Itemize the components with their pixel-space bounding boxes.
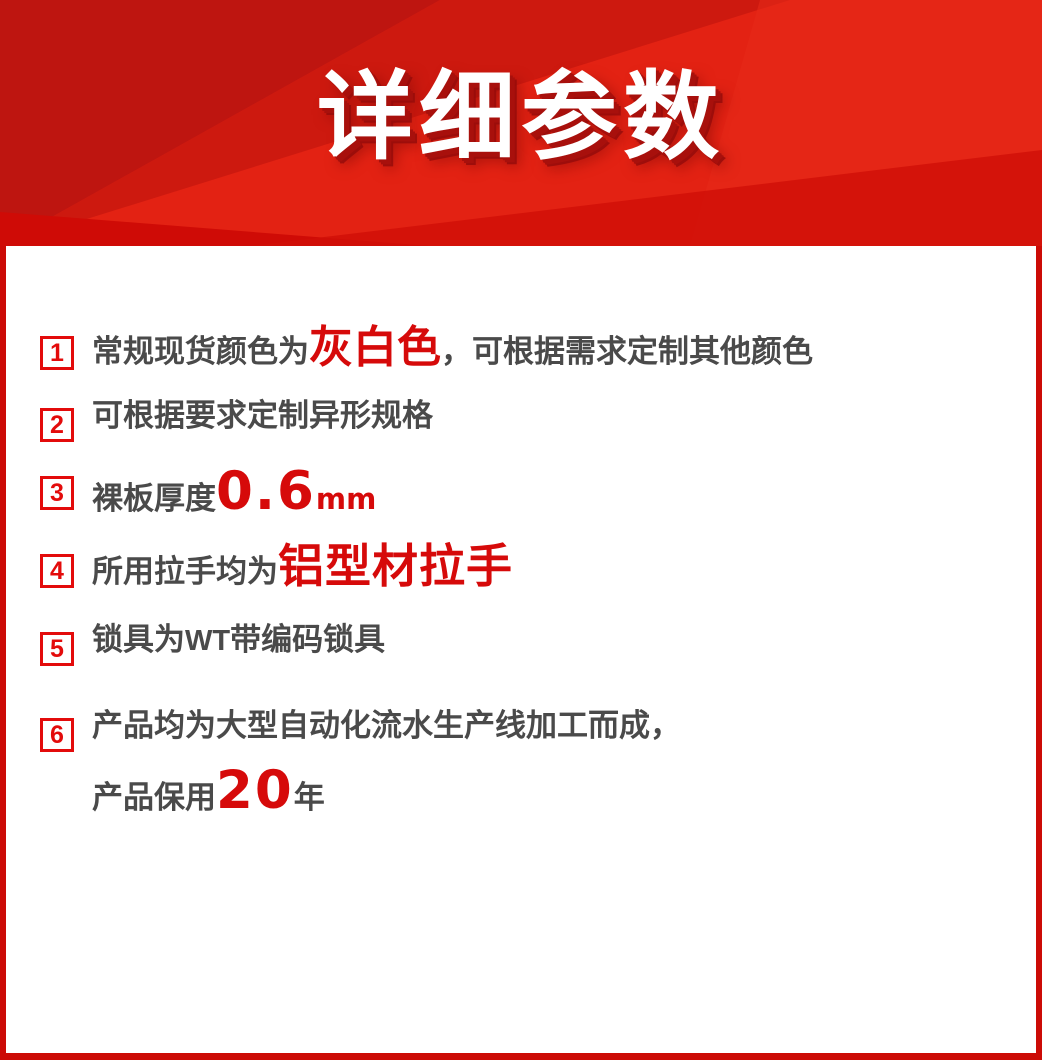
text-segment-value: 20 [216,760,294,821]
list-item: 1 常规现货颜色为灰白色，可根据需求定制其他颜色 [6,328,1036,370]
item-text: 裸板厚度0.6mm [92,468,376,516]
spec-list: 1 常规现货颜色为灰白色，可根据需求定制其他颜色 2 可根据要求定制异形规格 [6,246,1036,814]
list-item: 6 产品均为大型自动化流水生产线加工而成， 产品保用20年 [6,710,1036,815]
text-segment-value: 0.6 [216,461,316,522]
text-segment-unit: mm [316,482,376,516]
list-item: 4 所用拉手均为铝型材拉手 [6,546,1036,588]
item-text: 所用拉手均为铝型材拉手 [92,546,513,587]
item-number-badge: 4 [40,554,74,588]
text-segment: 常规现货颜色为 [92,334,309,369]
item-text: 产品均为大型自动化流水生产线加工而成， 产品保用20年 [92,710,681,815]
item-text: 常规现货颜色为灰白色，可根据需求定制其他颜色 [92,328,813,368]
item-number-badge: 1 [40,336,74,370]
text-segment: 产品保用 [92,780,216,815]
item-line: 可根据要求定制异形规格 [92,400,433,431]
item-line: 产品保用20年 [92,767,681,815]
list-item: 5 锁具为WT带编码锁具 [6,624,1036,666]
item-number-badge: 5 [40,632,74,666]
item-number-badge: 2 [40,408,74,442]
item-line: 裸板厚度0.6mm [92,468,376,516]
banner-title-text: 详细参数 [317,70,725,176]
text-segment: 所用拉手均为 [92,554,278,589]
text-segment: 裸板厚度 [92,481,216,516]
list-item: 2 可根据要求定制异形规格 [6,400,1036,442]
text-segment: ，可根据需求定制其他颜色 [441,334,813,369]
item-number-badge: 6 [40,718,74,752]
text-segment: 带编码锁具 [230,622,385,657]
spec-page: 详细参数 1 常规现货颜色为灰白色，可根据需求定制其他颜色 2 可根据要求定制异… [0,0,1042,1060]
spec-panel: 1 常规现货颜色为灰白色，可根据需求定制其他颜色 2 可根据要求定制异形规格 [0,246,1042,1060]
item-text: 锁具为WT带编码锁具 [92,624,385,656]
item-line: 产品均为大型自动化流水生产线加工而成， [92,710,681,741]
text-segment-code: WT [185,625,230,657]
header-banner: 详细参数 [0,0,1042,246]
text-segment: 可根据要求定制异形规格 [92,398,433,433]
item-number-badge: 3 [40,476,74,510]
list-item: 3 裸板厚度0.6mm [6,468,1036,516]
item-line: 所用拉手均为铝型材拉手 [92,546,513,587]
text-segment: 年 [294,780,325,815]
item-line: 常规现货颜色为灰白色，可根据需求定制其他颜色 [92,328,813,368]
text-segment-emphasis: 灰白色 [309,323,441,372]
text-segment: 产品均为大型自动化流水生产线加工而成， [92,708,681,743]
item-line: 锁具为WT带编码锁具 [92,624,385,656]
text-segment-emphasis: 铝型材拉手 [278,540,513,592]
banner-title: 详细参数 [0,0,1042,246]
text-segment: 锁具为 [92,622,185,657]
item-text: 可根据要求定制异形规格 [92,400,433,431]
